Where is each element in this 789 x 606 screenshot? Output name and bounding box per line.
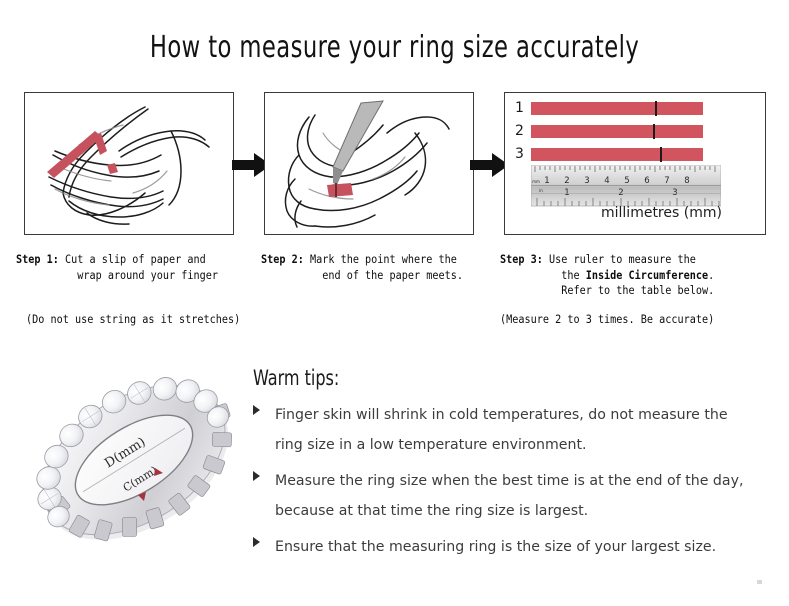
svg-text:7: 7: [664, 176, 669, 186]
svg-text:2: 2: [564, 176, 569, 186]
corner-artifact: [757, 580, 762, 584]
strip-mark-3: [660, 147, 662, 162]
svg-text:5: 5: [624, 176, 629, 186]
step-2-line1: Mark the point where the: [304, 253, 457, 266]
svg-text:mm: mm: [532, 179, 540, 184]
tip-text: Measure the ring size when the best time…: [275, 466, 758, 526]
tip-item: Measure the ring size when the best time…: [253, 466, 773, 526]
step-3-line2: the: [500, 269, 586, 282]
measured-strip-1: 1: [515, 101, 703, 115]
ring-diagram: D(mm) C(mm): [22, 356, 248, 570]
step-1-illustration-panel: [24, 92, 234, 235]
step-3-label: Step 3:: [500, 253, 543, 266]
tip-item: Finger skin will shrink in cold temperat…: [253, 400, 773, 460]
paper-strip-on-finger: [327, 183, 353, 197]
warm-tips-heading: Warm tips:: [253, 366, 339, 390]
step-3-line3: .: [708, 269, 714, 282]
strip-number-3: 3: [515, 147, 531, 161]
strip-bar-3: [531, 148, 703, 161]
svg-text:1: 1: [564, 188, 569, 198]
strip-number-2: 2: [515, 124, 531, 138]
step-3-emphasis: Inside Circumference: [586, 269, 708, 282]
ring-illustration: D(mm) C(mm): [22, 356, 248, 570]
step-2-caption: Step 2: Mark the point where the end of …: [261, 252, 463, 283]
strip-mark-2: [653, 124, 655, 139]
ruler-unit-caption: millimetres (mm): [601, 205, 722, 221]
step-2-line2: end of the paper meets.: [261, 269, 463, 282]
bullet-triangle-icon: [253, 405, 260, 415]
step-1-line1: Cut a slip of paper and: [59, 253, 206, 266]
svg-text:8: 8: [684, 176, 689, 186]
step-1-line2: wrap around your finger: [16, 269, 218, 282]
step-1-label: Step 1:: [16, 253, 59, 266]
strip-mark-1: [655, 101, 657, 116]
step-3-line4: Refer to the table below.: [500, 284, 714, 297]
tip-text: Finger skin will shrink in cold temperat…: [275, 400, 758, 460]
step-3-line1: Use ruler to measure the: [543, 253, 696, 266]
strip-bar-2: [531, 125, 703, 138]
page-title: How to measure your ring size accurately: [63, 30, 726, 65]
measured-strip-3: 3: [515, 147, 703, 161]
strip-bar-1: [531, 102, 703, 115]
svg-text:1: 1: [544, 176, 549, 186]
tip-item: Ensure that the measuring ring is the si…: [253, 532, 773, 562]
svg-text:3: 3: [584, 176, 589, 186]
svg-text:6: 6: [644, 176, 649, 186]
step-1-caption: Step 1: Cut a slip of paper and wrap aro…: [16, 252, 218, 283]
svg-text:4: 4: [604, 176, 609, 186]
strip-number-1: 1: [515, 101, 531, 115]
hand-with-paper-strip-drawing: [25, 93, 233, 234]
bullet-triangle-icon: [253, 471, 260, 481]
step-2-illustration-panel: [264, 92, 474, 235]
step-2-label: Step 2:: [261, 253, 304, 266]
warm-tips-list: Finger skin will shrink in cold temperat…: [253, 400, 773, 568]
hand-marking-paper-drawing: [265, 93, 473, 234]
svg-text:3: 3: [672, 188, 677, 198]
paper-strip-wrapped: [94, 133, 118, 174]
step-3-caption: Step 3: Use ruler to measure the the Ins…: [500, 252, 714, 299]
step-3-note: (Measure 2 to 3 times. Be accurate): [500, 313, 714, 326]
measured-strip-2: 2: [515, 124, 703, 138]
pen-icon: [333, 101, 383, 185]
step-1-note: (Do not use string as it stretches): [26, 313, 240, 326]
bullet-triangle-icon: [253, 537, 260, 547]
tip-text: Ensure that the measuring ring is the si…: [275, 532, 758, 562]
svg-text:2: 2: [618, 188, 623, 198]
svg-text:in: in: [539, 188, 543, 193]
ring-size-guide-page: How to measure your ring size accurately: [0, 0, 789, 606]
step-3-illustration-panel: 1 2 3: [504, 92, 766, 235]
